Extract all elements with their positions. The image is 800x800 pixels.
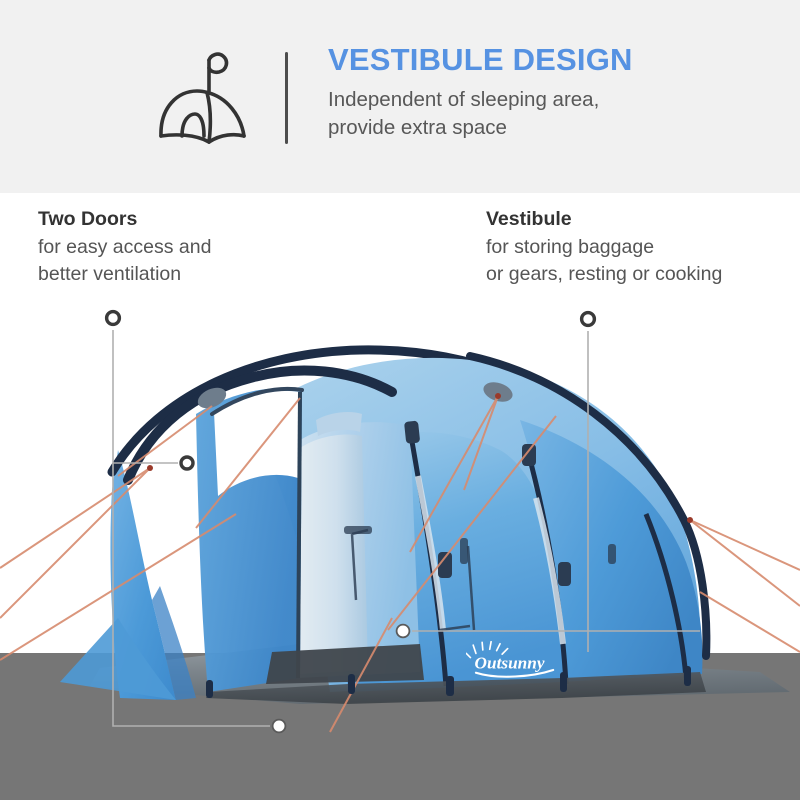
infographic-page: VESTIBULE DESIGN Independent of sleeping… (0, 0, 800, 800)
header-band: VESTIBULE DESIGN Independent of sleeping… (0, 0, 800, 193)
callout-vestibule-body: for storing baggage or gears, resting or… (486, 234, 722, 288)
product-photo: Outsunny (0, 300, 800, 800)
page-title: VESTIBULE DESIGN (328, 44, 768, 77)
callout-vestibule: Vestibule for storing baggage or gears, … (486, 206, 722, 288)
page-subtitle-line1: Independent of sleeping area, (328, 86, 768, 114)
header-text-block: VESTIBULE DESIGN Independent of sleeping… (328, 44, 768, 142)
callout-vestibule-title: Vestibule (486, 206, 722, 232)
tent-left-door-edge-seam (298, 392, 300, 678)
tent-illustration (0, 300, 800, 800)
tent-inner-door-strip (298, 435, 368, 675)
callout-two-doors-line2: better ventilation (38, 261, 211, 288)
callout-two-doors-body: for easy access and better ventilation (38, 234, 211, 288)
dome-tent-with-flag-icon (148, 45, 268, 150)
callout-vestibule-line1: for storing baggage (486, 234, 722, 261)
callout-two-doors-line1: for easy access and (38, 234, 211, 261)
callout-two-doors: Two Doors for easy access and better ven… (38, 206, 211, 288)
callout-vestibule-line2: or gears, resting or cooking (486, 261, 722, 288)
page-subtitle-line2: provide extra space (328, 114, 768, 142)
header-divider (285, 52, 288, 144)
callout-two-doors-title: Two Doors (38, 206, 211, 232)
page-subtitle: Independent of sleeping area, provide ex… (328, 86, 768, 143)
